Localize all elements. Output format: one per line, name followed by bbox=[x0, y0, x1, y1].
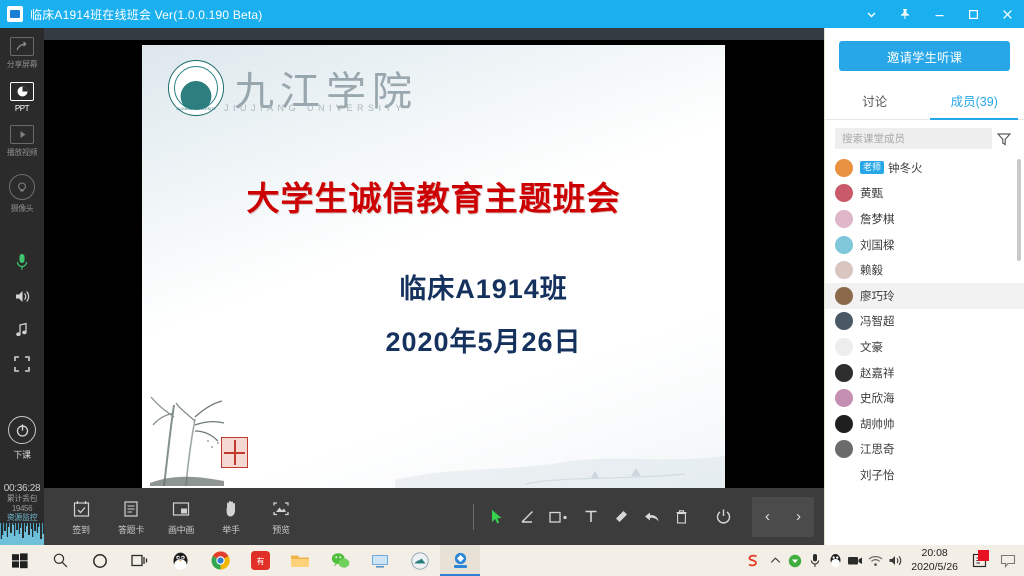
member-name: 钟冬火 bbox=[888, 160, 923, 176]
camera-icon bbox=[9, 174, 35, 200]
list-item[interactable]: 老师 钟冬火 bbox=[825, 155, 1024, 181]
member-name: 赖毅 bbox=[860, 262, 883, 278]
list-item[interactable]: 赖毅 bbox=[825, 257, 1024, 283]
seal-text: JIUJIANG UNIVERSITY bbox=[169, 107, 223, 111]
wechat-icon[interactable] bbox=[320, 545, 360, 576]
undo-icon[interactable] bbox=[636, 497, 666, 537]
qq-tray-icon[interactable] bbox=[825, 545, 845, 576]
tool-label-raise-hand: 举手 bbox=[222, 523, 239, 536]
slide-pager: ‹ › bbox=[752, 497, 814, 537]
title-bar: 临床A1914班在线班会 Ver(1.0.0.190 Beta) bbox=[0, 0, 1024, 28]
notification-badge bbox=[978, 550, 989, 561]
toolbar-divider bbox=[473, 504, 474, 530]
avatar bbox=[835, 312, 853, 330]
member-name: 冯智超 bbox=[860, 313, 895, 329]
member-name: 刘子怡 bbox=[860, 467, 895, 483]
tool-label-picture-in-picture: 画中画 bbox=[168, 523, 194, 536]
left-sidebar: 分享屏幕 PPT 播放视频 摄像头 bbox=[0, 28, 44, 545]
search-input[interactable] bbox=[835, 128, 992, 149]
list-item[interactable]: 冯智超 bbox=[825, 309, 1024, 335]
wifi-icon[interactable] bbox=[865, 545, 885, 576]
power-end-class-icon bbox=[8, 416, 36, 444]
app-icon bbox=[7, 6, 23, 22]
tool-label-preview: 预览 bbox=[272, 523, 289, 536]
resource-monitor-graph bbox=[0, 523, 44, 545]
capture-tray-icon[interactable] bbox=[845, 545, 865, 576]
monitor-icon[interactable] bbox=[360, 545, 400, 576]
minimize-icon[interactable] bbox=[922, 0, 956, 28]
app-window: 临床A1914班在线班会 Ver(1.0.0.190 Beta) 分享屏幕 bbox=[0, 0, 1024, 576]
ink-hills-decoration bbox=[395, 428, 725, 488]
youdao-icon[interactable]: 有 bbox=[240, 545, 280, 576]
tab-members[interactable]: 成员(39) bbox=[925, 83, 1024, 119]
avatar bbox=[835, 389, 853, 407]
next-slide-button[interactable]: › bbox=[783, 497, 814, 537]
right-panel: 邀请学生听课 讨论 成员(39) 老师 钟冬火 黄甄 詹梦棋 bbox=[824, 28, 1024, 545]
sidebar-label-ppt: PPT bbox=[15, 104, 29, 113]
avatar bbox=[835, 287, 853, 305]
fullscreen-icon[interactable] bbox=[0, 347, 44, 381]
close-icon[interactable] bbox=[990, 0, 1024, 28]
start-button[interactable] bbox=[0, 545, 40, 576]
avatar bbox=[835, 466, 853, 484]
resource-monitor-label: 资源监控 bbox=[0, 513, 44, 522]
pin-icon[interactable] bbox=[888, 0, 922, 28]
play-video-icon bbox=[10, 125, 34, 144]
list-item[interactable]: 詹梦棋 bbox=[825, 206, 1024, 232]
tool-raise-hand[interactable]: 举手 bbox=[208, 498, 254, 536]
sidebar-stats: 00:36:28 累计丢包 19456 资源监控 bbox=[0, 483, 44, 545]
slide-subtitle-class: 临床A1914班 bbox=[142, 267, 725, 306]
member-name: 刘国樑 bbox=[860, 237, 895, 253]
show-hidden-icons[interactable] bbox=[765, 545, 785, 576]
raise-hand-icon bbox=[224, 498, 239, 520]
sidebar-label-camera: 摄像头 bbox=[11, 203, 34, 214]
maximize-icon[interactable] bbox=[956, 0, 990, 28]
avatar bbox=[835, 440, 853, 458]
university-logo-icon[interactable] bbox=[400, 545, 440, 576]
microphone-tray-icon[interactable] bbox=[805, 545, 825, 576]
tab-discussion[interactable]: 讨论 bbox=[825, 83, 925, 119]
check-in-icon bbox=[73, 498, 90, 520]
member-name: 史欣海 bbox=[860, 390, 895, 406]
avatar bbox=[835, 210, 853, 228]
avatar bbox=[835, 236, 853, 254]
qq-penguin-icon[interactable] bbox=[160, 545, 200, 576]
classroom-icon[interactable] bbox=[440, 545, 480, 576]
text-tool-icon[interactable] bbox=[576, 497, 606, 537]
avatar bbox=[835, 364, 853, 382]
tool-answer-card[interactable]: 答题卡 bbox=[108, 498, 154, 536]
list-item[interactable]: 赵嘉祥 bbox=[825, 360, 1024, 386]
list-item[interactable]: 文豪 bbox=[825, 334, 1024, 360]
cortana-circle-icon[interactable] bbox=[80, 545, 120, 576]
speaker-icon[interactable] bbox=[0, 279, 44, 313]
window-title: 临床A1914班在线班会 Ver(1.0.0.190 Beta) bbox=[30, 6, 263, 23]
sogou-input-icon[interactable] bbox=[741, 545, 765, 576]
member-name: 江思奇 bbox=[860, 441, 895, 457]
member-search-row bbox=[825, 120, 1024, 155]
presentation-stage: JIUJIANG UNIVERSITY 九江学院 JIUJIANG UNIVER… bbox=[44, 28, 824, 488]
ink-bamboo-decoration bbox=[150, 391, 280, 486]
preview-icon bbox=[272, 498, 290, 520]
clock-date: 2020/5/26 bbox=[911, 561, 958, 574]
bottom-toolbar: 签到 答题卡 画中画 举手 预览 bbox=[44, 488, 824, 545]
sidebar-item-ppt[interactable]: PPT bbox=[0, 73, 44, 116]
member-list[interactable]: 老师 钟冬火 黄甄 詹梦棋 刘国樑 赖毅 廖巧玲 bbox=[825, 155, 1024, 541]
packet-loss-label: 累计丢包 bbox=[0, 494, 44, 503]
teacher-badge: 老师 bbox=[860, 161, 884, 174]
volume-icon[interactable] bbox=[885, 545, 905, 576]
trash-icon[interactable] bbox=[666, 497, 696, 537]
member-name: 詹梦棋 bbox=[860, 211, 895, 227]
svg-text:有: 有 bbox=[256, 556, 264, 566]
sidebar-item-camera[interactable]: 摄像头 bbox=[0, 161, 44, 217]
task-view-icon[interactable] bbox=[120, 545, 160, 576]
avatar bbox=[835, 338, 853, 356]
tool-preview[interactable]: 预览 bbox=[258, 498, 304, 536]
picture-in-picture-icon bbox=[172, 498, 190, 520]
ppt-slide[interactable]: JIUJIANG UNIVERSITY 九江学院 JIUJIANG UNIVER… bbox=[142, 45, 725, 488]
university-seal-icon: JIUJIANG UNIVERSITY bbox=[168, 60, 224, 116]
invite-students-button[interactable]: 邀请学生听课 bbox=[839, 41, 1010, 71]
tool-picture-in-picture[interactable]: 画中画 bbox=[158, 498, 204, 536]
member-name: 文豪 bbox=[860, 339, 883, 355]
university-name-en: JIUJIANG UNIVERSITY bbox=[224, 103, 406, 113]
chevron-down-icon[interactable] bbox=[854, 0, 888, 28]
chat-bubble-icon[interactable] bbox=[992, 545, 1024, 576]
sidebar-label-end-class: 下课 bbox=[13, 448, 30, 461]
tool-label-answer-card: 答题卡 bbox=[118, 523, 144, 536]
answer-card-icon bbox=[123, 498, 139, 520]
folder-icon[interactable] bbox=[280, 545, 320, 576]
share-screen-icon bbox=[10, 37, 34, 56]
shape-rectangle-icon[interactable] bbox=[542, 497, 576, 537]
prev-slide-button[interactable]: ‹ bbox=[752, 497, 783, 537]
power-icon[interactable] bbox=[708, 497, 738, 537]
member-name: 胡帅帅 bbox=[860, 416, 895, 432]
ppt-icon bbox=[10, 82, 34, 101]
list-item[interactable]: 江思奇 bbox=[825, 437, 1024, 463]
member-name: 黄甄 bbox=[860, 185, 883, 201]
panel-tabs: 讨论 成员(39) bbox=[825, 83, 1024, 120]
clock-time: 20:08 bbox=[911, 547, 958, 560]
slide-subtitle-date: 2020年5月26日 bbox=[142, 320, 725, 359]
filter-icon[interactable] bbox=[992, 132, 1016, 146]
list-item[interactable]: 刘国樑 bbox=[825, 232, 1024, 258]
tool-check-in[interactable]: 签到 bbox=[58, 498, 104, 536]
list-item[interactable]: 廖巧玲 bbox=[825, 283, 1024, 309]
list-item[interactable]: 史欣海 bbox=[825, 385, 1024, 411]
taskbar-clock[interactable]: 20:08 2020/5/26 bbox=[905, 547, 966, 573]
action-center-icon[interactable] bbox=[966, 545, 992, 576]
sidebar-item-end-class[interactable]: 下课 bbox=[0, 407, 44, 464]
list-item[interactable]: 刘子怡 bbox=[825, 462, 1024, 488]
slide-title: 大学生诚信教育主题班会 bbox=[142, 172, 725, 220]
pen-line-icon[interactable] bbox=[512, 497, 542, 537]
update-icon[interactable] bbox=[785, 545, 805, 576]
list-item[interactable]: 黄甄 bbox=[825, 181, 1024, 207]
list-item[interactable]: 胡帅帅 bbox=[825, 411, 1024, 437]
red-stamp-seal bbox=[221, 437, 248, 468]
member-list-scrollbar[interactable] bbox=[1017, 159, 1021, 261]
avatar bbox=[835, 159, 853, 177]
search-icon[interactable] bbox=[40, 545, 80, 576]
windows-taskbar: 有 bbox=[0, 545, 1024, 576]
cursor-pointer-icon[interactable] bbox=[482, 497, 512, 537]
microphone-icon[interactable] bbox=[0, 245, 44, 279]
tool-label-check-in: 签到 bbox=[72, 523, 89, 536]
sidebar-item-share-screen[interactable]: 分享屏幕 bbox=[0, 28, 44, 73]
elapsed-time: 00:36:28 bbox=[0, 483, 44, 494]
sidebar-label-share-screen: 分享屏幕 bbox=[7, 59, 37, 70]
sidebar-label-play-video: 播放视频 bbox=[7, 147, 37, 158]
invite-wrapper: 邀请学生听课 bbox=[825, 28, 1024, 83]
music-note-icon[interactable] bbox=[0, 313, 44, 347]
eraser-icon[interactable] bbox=[606, 497, 636, 537]
avatar bbox=[835, 184, 853, 202]
avatar bbox=[835, 415, 853, 433]
stage-top-strip bbox=[44, 28, 824, 40]
avatar bbox=[835, 261, 853, 279]
packet-loss-value: 19456 bbox=[0, 504, 44, 513]
member-name: 赵嘉祥 bbox=[860, 365, 895, 381]
member-name: 廖巧玲 bbox=[860, 288, 895, 304]
system-tray bbox=[741, 545, 905, 576]
chrome-icon[interactable] bbox=[200, 545, 240, 576]
sidebar-item-play-video[interactable]: 播放视频 bbox=[0, 116, 44, 161]
